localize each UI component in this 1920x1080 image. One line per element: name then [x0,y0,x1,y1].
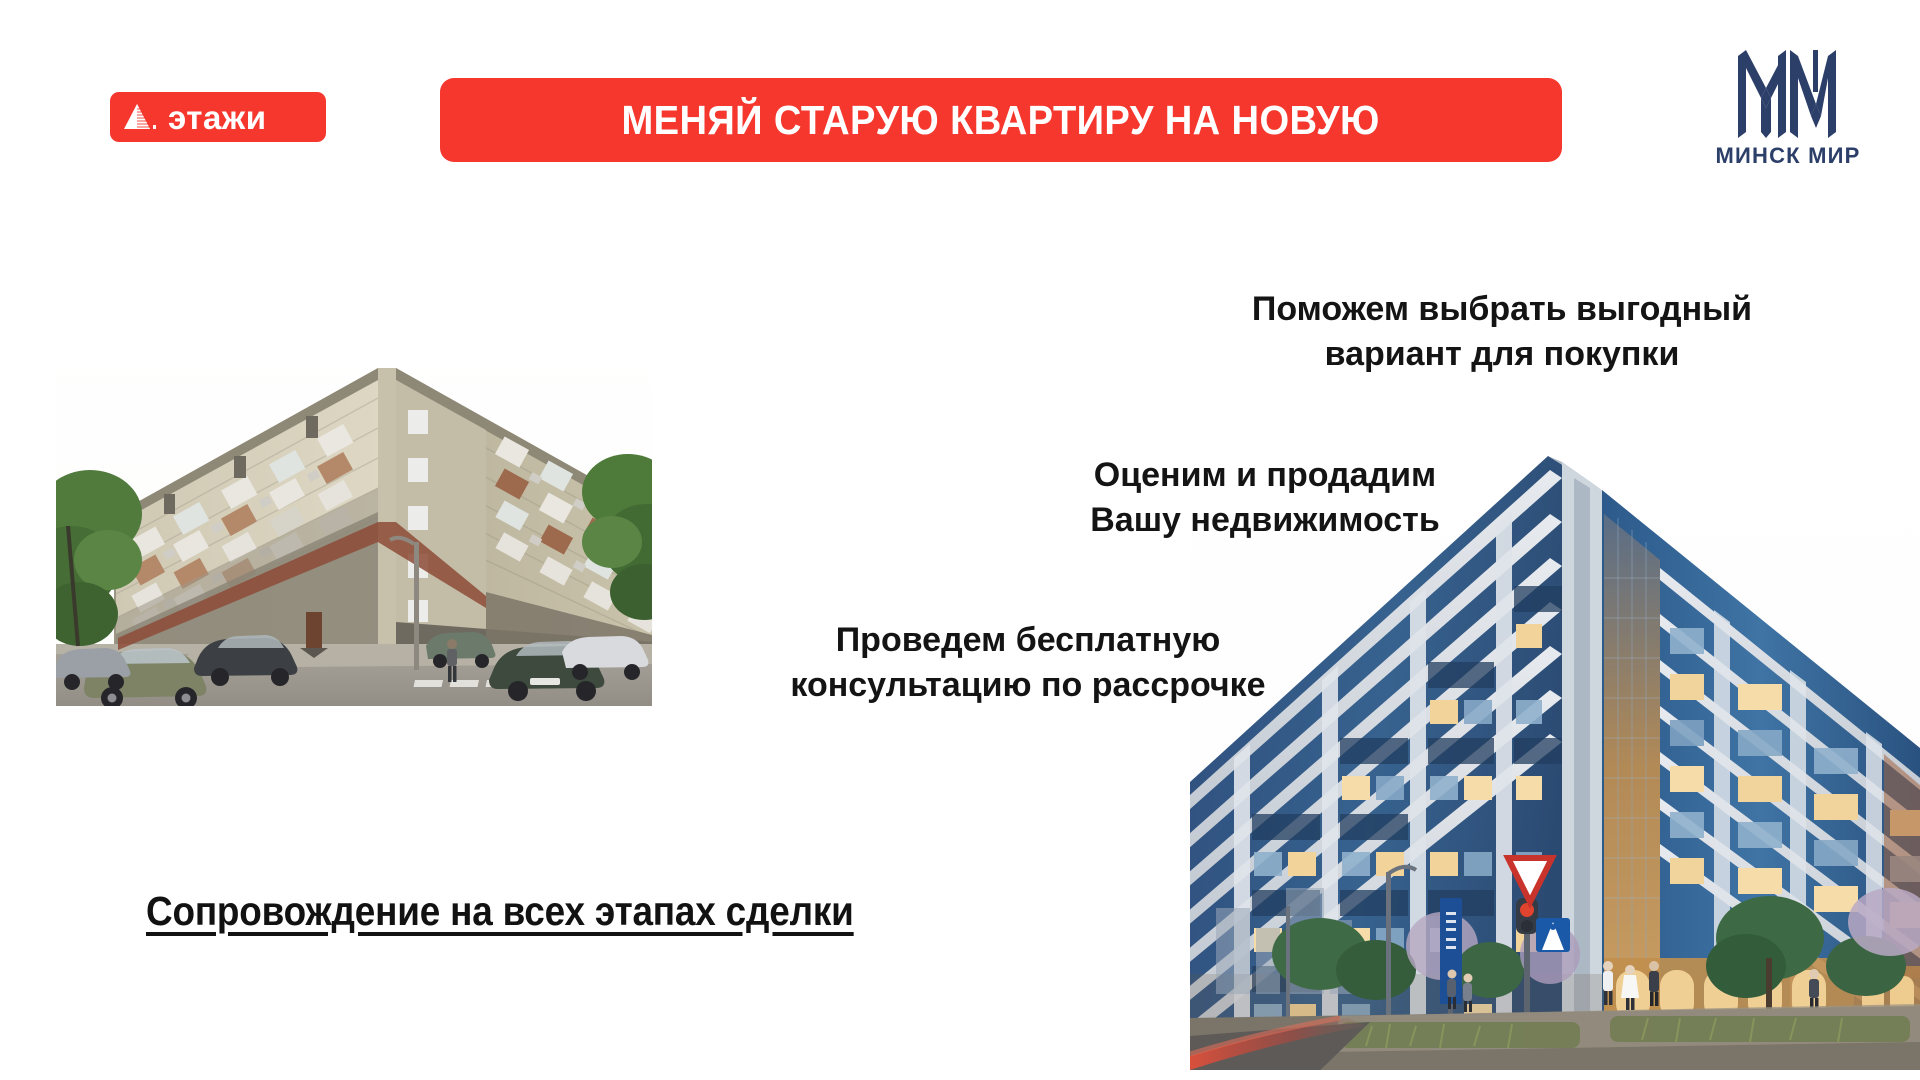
footer-claim: Сопровождение на всех этапах сделки [146,888,854,935]
headline-banner: МЕНЯЙ СТАРУЮ КВАРТИРУ НА НОВУЮ [440,78,1562,162]
building-mark-icon [123,103,161,133]
old-building-illustration [56,346,652,720]
minsk-mir-logo[interactable]: МИНСК МИР [1708,48,1868,170]
mm-monogram-icon [1732,48,1844,140]
etazhi-brand-logo[interactable]: этажи [110,92,326,142]
benefit-text-2: Оценим и продадим Вашу недвижимость [1030,453,1500,543]
benefit-text-1: Поможем выбрать выгодный вариант для пок… [1228,287,1776,377]
headline-text: МЕНЯЙ СТАРУЮ КВАРТИРУ НА НОВУЮ [622,97,1380,144]
etazhi-logo-text: этажи [168,101,267,134]
minsk-mir-caption: МИНСК МИР [1708,143,1868,169]
old-building-photo [56,346,652,720]
benefit-text-3: Проведем бесплатную консультацию по расс… [772,618,1284,708]
